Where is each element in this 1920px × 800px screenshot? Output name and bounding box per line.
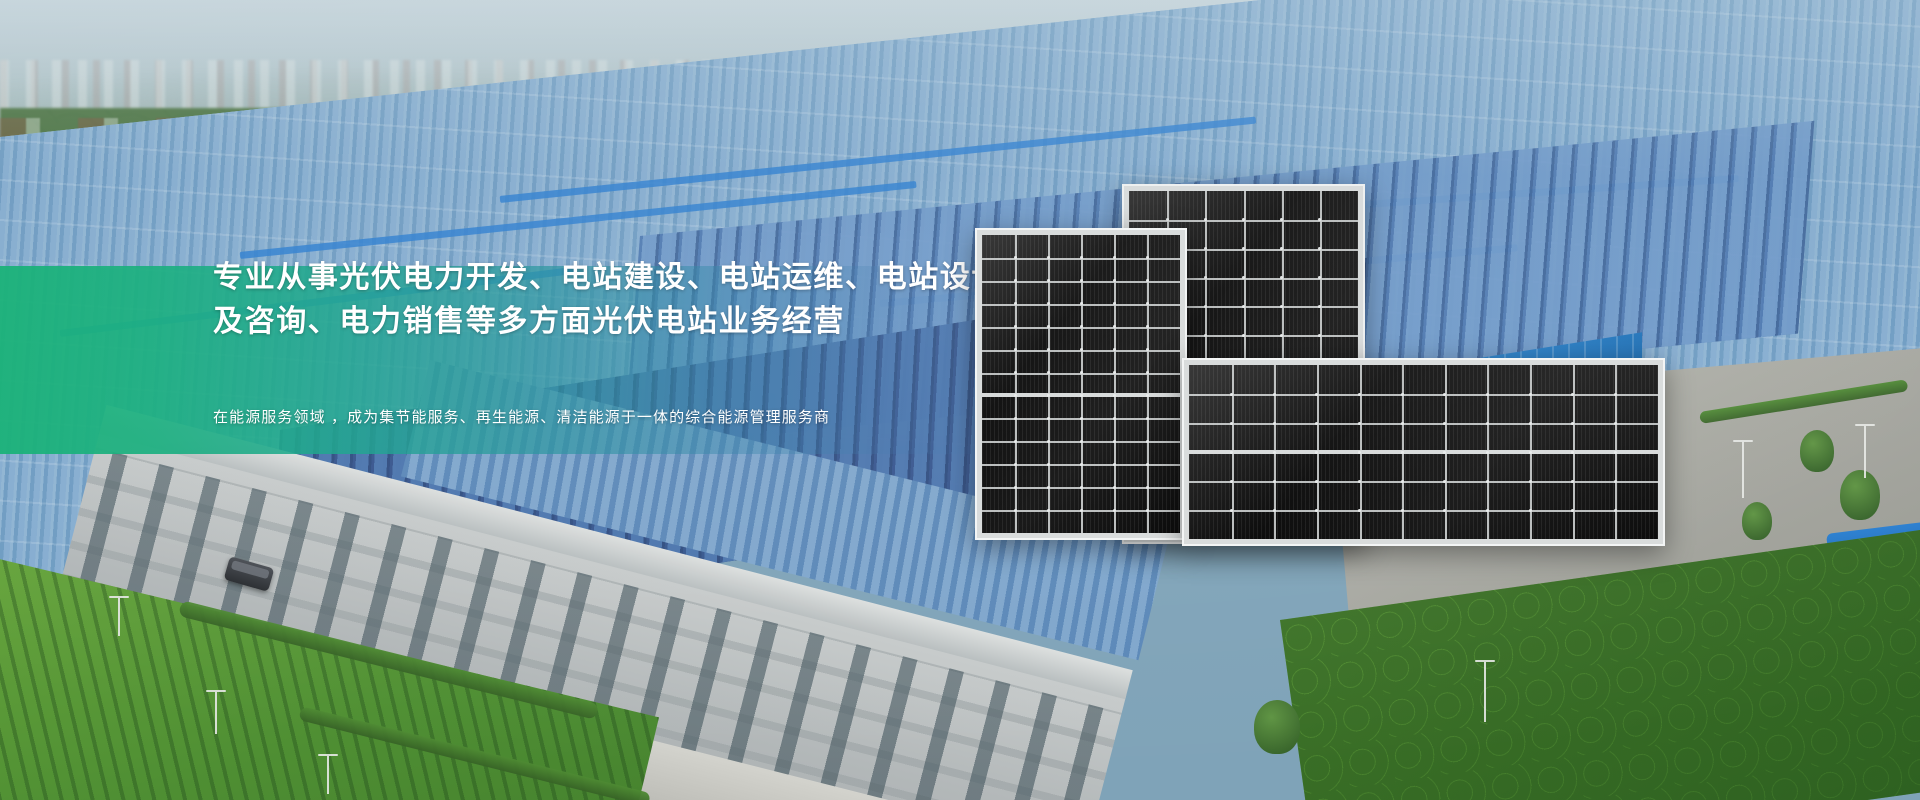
- busbar-solder-point: [1080, 394, 1083, 397]
- busbar-solder-point: [1242, 305, 1245, 308]
- tree: [1742, 502, 1772, 540]
- busbar-solder-point: [1529, 480, 1532, 483]
- busbar-solder-point: [1080, 417, 1083, 420]
- busbar-solder-point: [1204, 305, 1207, 308]
- busbar-solder-point: [1080, 486, 1083, 489]
- busbar-solder-point: [1047, 348, 1050, 351]
- module-center-busbar: [1189, 450, 1658, 454]
- busbar-solder-point: [1529, 451, 1532, 454]
- busbar-solder-point: [1014, 463, 1017, 466]
- busbar-solder-point: [1113, 325, 1116, 328]
- busbar-solder-point: [1113, 486, 1116, 489]
- cell-divider-horizontal: [1189, 394, 1658, 396]
- busbar-solder-point: [1401, 422, 1404, 425]
- busbar-solder-point: [1280, 334, 1283, 337]
- busbar-solder-point: [1113, 463, 1116, 466]
- busbar-solder-point: [1529, 509, 1532, 512]
- busbar-solder-point: [1571, 422, 1574, 425]
- busbar-solder-point: [1614, 509, 1617, 512]
- busbar-solder-point: [1486, 509, 1489, 512]
- busbar-solder-point: [1146, 348, 1149, 351]
- busbar-solder-point: [1486, 393, 1489, 396]
- busbar-solder-point: [1047, 371, 1050, 374]
- busbar-solder-point: [1230, 451, 1233, 454]
- street-lamp: [1484, 660, 1486, 722]
- busbar-solder-point: [1242, 334, 1245, 337]
- busbar-solder-point: [1146, 440, 1149, 443]
- busbar-solder-point: [1273, 422, 1276, 425]
- busbar-solder-point: [1443, 509, 1446, 512]
- busbar-solder-point: [1014, 371, 1017, 374]
- busbar-solder-point: [1014, 302, 1017, 305]
- busbar-solder-point: [1529, 422, 1532, 425]
- busbar-solder-point: [1113, 509, 1116, 512]
- busbar-solder-point: [1014, 348, 1017, 351]
- busbar-solder-point: [1486, 451, 1489, 454]
- busbar-solder-point: [1571, 393, 1574, 396]
- busbar-solder-point: [1080, 302, 1083, 305]
- busbar-solder-point: [1146, 302, 1149, 305]
- busbar-solder-point: [1443, 422, 1446, 425]
- street-lamp: [118, 596, 120, 636]
- busbar-solder-point: [1014, 509, 1017, 512]
- busbar-solder-point: [1230, 393, 1233, 396]
- busbar-solder-point: [1146, 394, 1149, 397]
- busbar-solder-point: [1047, 440, 1050, 443]
- solar-cell-grid: [1189, 365, 1658, 539]
- hero-banner: 专业从事光伏电力开发、电站建设、电站运维、电站设计 及咨询、电力销售等多方面光伏…: [0, 0, 1920, 800]
- busbar-solder-point: [1014, 440, 1017, 443]
- busbar-solder-point: [1047, 463, 1050, 466]
- busbar-solder-point: [1080, 325, 1083, 328]
- busbar-solder-point: [1080, 348, 1083, 351]
- busbar-solder-point: [1080, 509, 1083, 512]
- busbar-solder-point: [1014, 325, 1017, 328]
- busbar-solder-point: [1146, 509, 1149, 512]
- busbar-solder-point: [1047, 394, 1050, 397]
- busbar-solder-point: [1014, 486, 1017, 489]
- street-lamp: [1742, 440, 1744, 498]
- busbar-solder-point: [1230, 422, 1233, 425]
- busbar-solder-point: [1358, 480, 1361, 483]
- busbar-solder-point: [1146, 371, 1149, 374]
- busbar-solder-point: [1113, 371, 1116, 374]
- street-lamp: [327, 754, 329, 794]
- busbar-solder-point: [1571, 480, 1574, 483]
- busbar-solder-point: [1230, 509, 1233, 512]
- busbar-solder-point: [1146, 486, 1149, 489]
- busbar-solder-point: [1401, 451, 1404, 454]
- busbar-solder-point: [1443, 393, 1446, 396]
- busbar-solder-point: [1047, 325, 1050, 328]
- busbar-solder-point: [1146, 417, 1149, 420]
- busbar-solder-point: [1204, 247, 1207, 250]
- busbar-solder-point: [1047, 302, 1050, 305]
- street-lamp: [215, 690, 217, 734]
- busbar-solder-point: [1080, 463, 1083, 466]
- busbar-solder-point: [1280, 305, 1283, 308]
- tree: [1254, 700, 1300, 754]
- busbar-solder-point: [1113, 394, 1116, 397]
- busbar-solder-point: [1443, 451, 1446, 454]
- busbar-solder-point: [1204, 334, 1207, 337]
- busbar-solder-point: [1146, 325, 1149, 328]
- cell-divider-horizontal: [1189, 481, 1658, 483]
- busbar-solder-point: [1047, 509, 1050, 512]
- busbar-solder-point: [1273, 393, 1276, 396]
- busbar-solder-point: [1080, 440, 1083, 443]
- busbar-solder-point: [1146, 463, 1149, 466]
- busbar-solder-point: [1230, 480, 1233, 483]
- cell-divider-horizontal: [1189, 510, 1658, 512]
- busbar-solder-point: [1273, 480, 1276, 483]
- busbar-solder-point: [1358, 451, 1361, 454]
- busbar-solder-point: [1014, 394, 1017, 397]
- busbar-solder-point: [1358, 422, 1361, 425]
- busbar-solder-point: [1614, 393, 1617, 396]
- busbar-solder-point: [1358, 393, 1361, 396]
- busbar-solder-point: [1358, 509, 1361, 512]
- busbar-solder-point: [1273, 509, 1276, 512]
- busbar-solder-point: [1614, 451, 1617, 454]
- busbar-solder-point: [1529, 393, 1532, 396]
- busbar-solder-point: [1401, 509, 1404, 512]
- busbar-solder-point: [1014, 417, 1017, 420]
- busbar-solder-point: [1113, 417, 1116, 420]
- busbar-solder-point: [1047, 417, 1050, 420]
- busbar-solder-point: [1614, 422, 1617, 425]
- street-lamp: [1864, 424, 1866, 478]
- cell-divider-horizontal: [1189, 423, 1658, 425]
- busbar-solder-point: [1242, 276, 1245, 279]
- busbar-solder-point: [1571, 509, 1574, 512]
- tree: [1800, 430, 1834, 472]
- busbar-solder-point: [1401, 480, 1404, 483]
- solar-cell-grid: [982, 235, 1180, 533]
- busbar-solder-point: [1401, 393, 1404, 396]
- busbar-solder-point: [1273, 451, 1276, 454]
- busbar-solder-point: [1080, 371, 1083, 374]
- busbar-solder-point: [1047, 486, 1050, 489]
- solar-panel-module-front: [975, 228, 1187, 540]
- busbar-solder-point: [1571, 451, 1574, 454]
- busbar-solder-point: [1614, 480, 1617, 483]
- busbar-solder-point: [1204, 276, 1207, 279]
- tree: [1840, 470, 1880, 520]
- busbar-solder-point: [1486, 422, 1489, 425]
- busbar-solder-point: [1113, 302, 1116, 305]
- solar-panel-module-wide: [1182, 358, 1665, 546]
- busbar-solder-point: [1113, 440, 1116, 443]
- busbar-solder-point: [1486, 480, 1489, 483]
- busbar-solder-point: [1443, 480, 1446, 483]
- busbar-solder-point: [1113, 348, 1116, 351]
